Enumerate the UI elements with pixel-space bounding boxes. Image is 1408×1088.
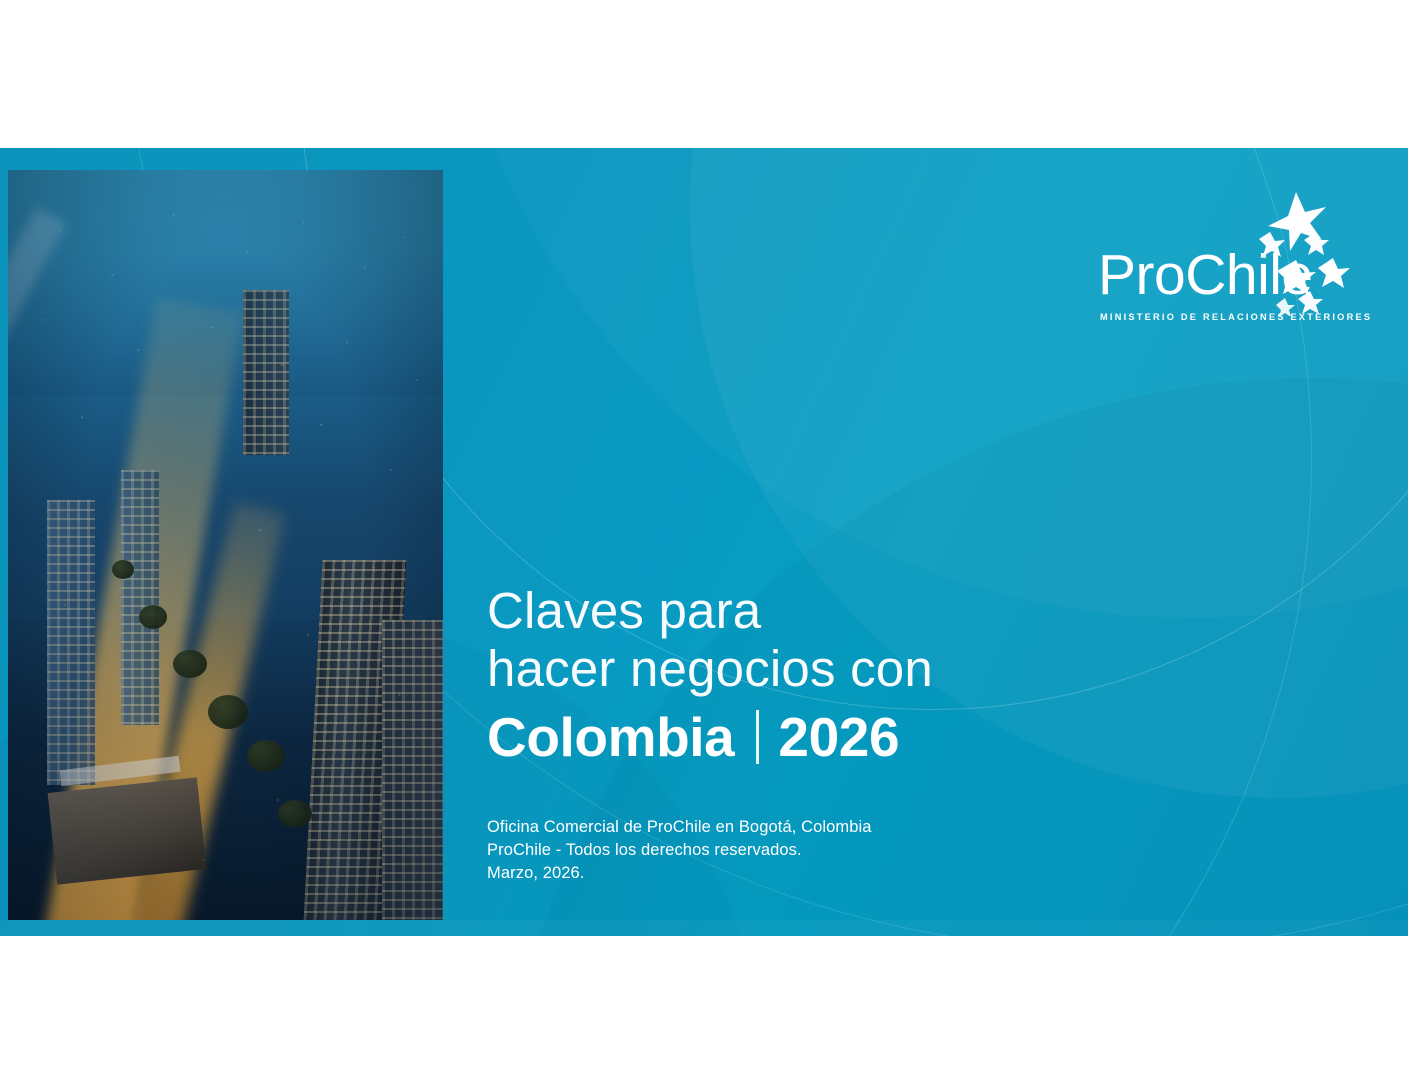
title-year: 2026 <box>778 702 899 772</box>
title-slide: ProChile MINISTERIO DE RELACIONES EXTERI… <box>0 148 1408 936</box>
title-line-one: Claves para <box>487 582 1227 640</box>
bogota-aerial-night-photo <box>8 170 443 920</box>
logo-wordmark: ProChile <box>1098 247 1313 304</box>
logo-tagline: MINISTERIO DE RELACIONES EXTERIORES <box>1100 312 1372 322</box>
title-headline: Colombia 2026 <box>487 702 1227 772</box>
slide-credits: Oficina Comercial de ProChile en Bogotá,… <box>487 816 872 885</box>
slide-bottom-band <box>0 920 1408 936</box>
title-divider <box>756 710 759 764</box>
title-line-two: hacer negocios con <box>487 640 1227 698</box>
credits-line-one: Oficina Comercial de ProChile en Bogotá,… <box>487 816 872 839</box>
slide-title: Claves para hacer negocios con Colombia … <box>487 582 1227 772</box>
photo-vignette <box>8 170 443 920</box>
prochile-logo: ProChile MINISTERIO DE RELACIONES EXTERI… <box>1090 190 1350 330</box>
credits-line-two: ProChile - Todos los derechos reservados… <box>487 839 872 862</box>
credits-line-three: Marzo, 2026. <box>487 862 872 885</box>
title-country: Colombia <box>487 702 734 772</box>
